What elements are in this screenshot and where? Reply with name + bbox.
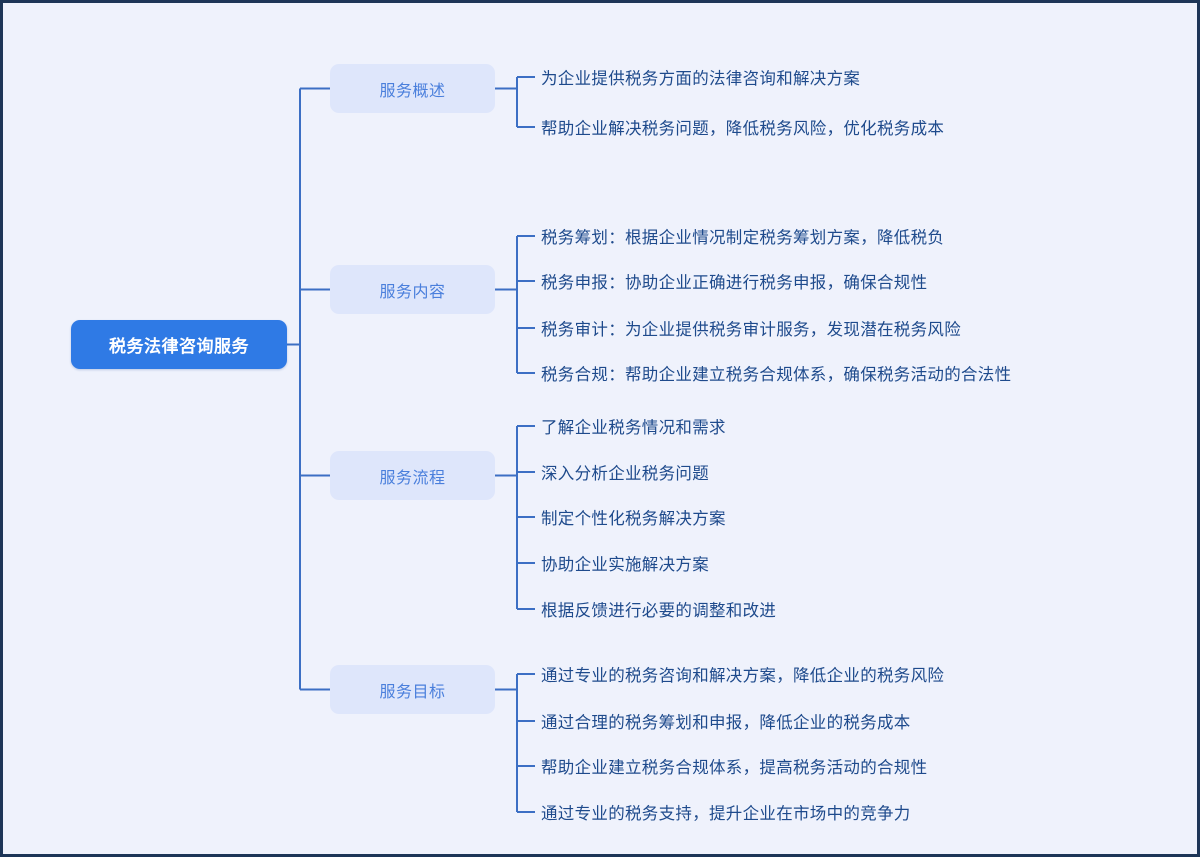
branch-node-service-process[interactable]: 服务流程 — [330, 451, 495, 500]
leaf-node[interactable]: 了解企业税务情况和需求 — [541, 413, 726, 439]
leaf-node-label: 通过专业的税务咨询和解决方案，降低企业的税务风险 — [541, 662, 944, 686]
leaf-node[interactable]: 税务筹划：根据企业情况制定税务筹划方案，降低税负 — [541, 223, 944, 249]
leaf-node[interactable]: 帮助企业建立税务合规体系，提高税务活动的合规性 — [541, 753, 927, 779]
leaf-node[interactable]: 通过专业的税务支持，提升企业在市场中的竞争力 — [541, 799, 911, 825]
branch-node-label: 服务目标 — [379, 678, 445, 702]
branch-node-service-overview[interactable]: 服务概述 — [330, 64, 495, 113]
leaf-node[interactable]: 帮助企业解决税务问题，降低税务风险，优化税务成本 — [541, 114, 944, 140]
leaf-node[interactable]: 制定个性化税务解决方案 — [541, 504, 726, 530]
leaf-node-label: 税务筹划：根据企业情况制定税务筹划方案，降低税负 — [541, 224, 944, 248]
leaf-node-label: 通过专业的税务支持，提升企业在市场中的竞争力 — [541, 800, 911, 824]
leaf-node[interactable]: 通过专业的税务咨询和解决方案，降低企业的税务风险 — [541, 661, 944, 687]
leaf-node[interactable]: 深入分析企业税务问题 — [541, 459, 709, 485]
leaf-node-label: 根据反馈进行必要的调整和改进 — [541, 597, 776, 621]
branch-node-service-content[interactable]: 服务内容 — [330, 265, 495, 314]
leaf-node-label: 深入分析企业税务问题 — [541, 460, 709, 484]
branch-node-label: 服务概述 — [379, 77, 445, 101]
leaf-node-label: 税务审计：为企业提供税务审计服务，发现潜在税务风险 — [541, 316, 961, 340]
leaf-node-label: 帮助企业解决税务问题，降低税务风险，优化税务成本 — [541, 115, 944, 139]
leaf-node-label: 了解企业税务情况和需求 — [541, 414, 726, 438]
leaf-node[interactable]: 税务审计：为企业提供税务审计服务，发现潜在税务风险 — [541, 315, 961, 341]
leaf-node-label: 为企业提供税务方面的法律咨询和解决方案 — [541, 65, 860, 89]
branch-node-service-goals[interactable]: 服务目标 — [330, 665, 495, 714]
branch-node-label: 服务流程 — [379, 464, 445, 488]
leaf-node[interactable]: 为企业提供税务方面的法律咨询和解决方案 — [541, 64, 860, 90]
leaf-node-label: 制定个性化税务解决方案 — [541, 505, 726, 529]
leaf-node[interactable]: 根据反馈进行必要的调整和改进 — [541, 596, 776, 622]
branch-node-label: 服务内容 — [379, 278, 445, 302]
leaf-node-label: 协助企业实施解决方案 — [541, 551, 709, 575]
root-node[interactable]: 税务法律咨询服务 — [71, 320, 287, 369]
leaf-node[interactable]: 税务申报：协助企业正确进行税务申报，确保合规性 — [541, 268, 927, 294]
leaf-node-label: 帮助企业建立税务合规体系，提高税务活动的合规性 — [541, 754, 927, 778]
leaf-node[interactable]: 税务合规：帮助企业建立税务合规体系，确保税务活动的合法性 — [541, 360, 1011, 386]
leaf-node-label: 税务合规：帮助企业建立税务合规体系，确保税务活动的合法性 — [541, 361, 1011, 385]
leaf-node-label: 税务申报：协助企业正确进行税务申报，确保合规性 — [541, 269, 927, 293]
leaf-node[interactable]: 协助企业实施解决方案 — [541, 550, 709, 576]
root-node-label: 税务法律咨询服务 — [109, 332, 249, 357]
mindmap-canvas: 税务法律咨询服务 服务概述为企业提供税务方面的法律咨询和解决方案帮助企业解决税务… — [0, 0, 1200, 857]
leaf-node-label: 通过合理的税务筹划和申报，降低企业的税务成本 — [541, 709, 911, 733]
leaf-node[interactable]: 通过合理的税务筹划和申报，降低企业的税务成本 — [541, 708, 911, 734]
